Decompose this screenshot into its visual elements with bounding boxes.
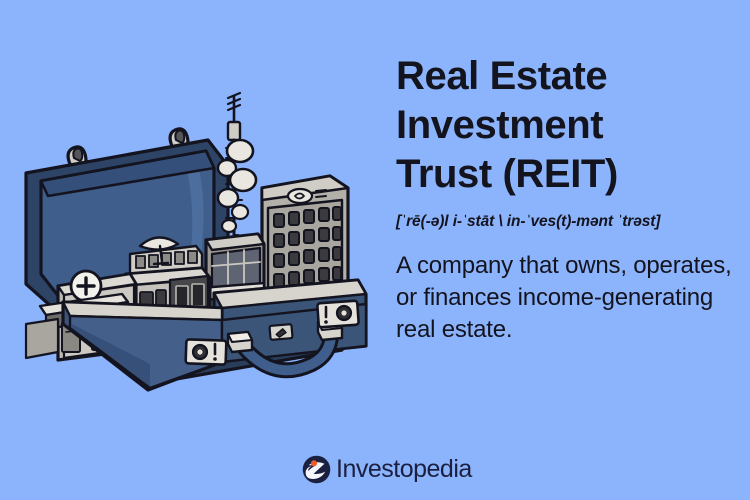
- open-briefcase-with-cityscape-illustration: [0, 88, 380, 428]
- briefcase-latch-center: [269, 324, 292, 340]
- definition-text-column: Real Estate Investment Trust (REIT) [ˈrē…: [396, 52, 736, 346]
- handle-mount-left: [228, 332, 252, 352]
- briefcase-lock-plate-left: [186, 339, 227, 364]
- investopedia-logo-mark-icon: [302, 455, 331, 484]
- page-title: Real Estate Investment Trust (REIT): [396, 52, 736, 199]
- investopedia-logo: Investopedia: [302, 455, 472, 484]
- investopedia-wordmark: Investopedia: [336, 457, 472, 482]
- reit-definition-card: Real Estate Investment Trust (REIT) [ˈrē…: [0, 0, 750, 500]
- pronunciation-text: [ˈrē(-ə)l i-ˈstāt \ in-ˈves(t)-mənt ˈtrə…: [396, 212, 736, 232]
- briefcase-lock-plate-right: [317, 301, 359, 328]
- definition-text: A company that owns, operates, or financ…: [396, 250, 736, 346]
